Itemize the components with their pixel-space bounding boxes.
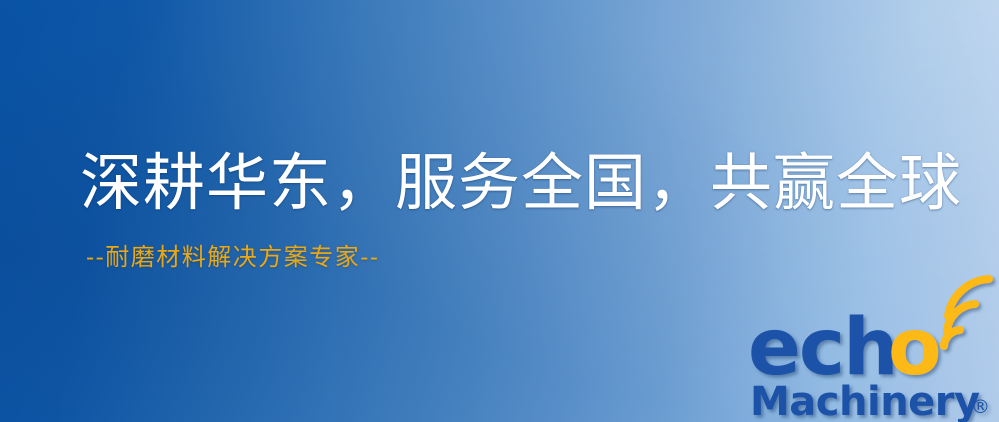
promo-banner: 深耕华东，服务全国，共赢全球 --耐磨材料解决方案专家-- ech o	[0, 0, 999, 422]
banner-copy-block: 深耕华东，服务全国，共赢全球 --耐磨材料解决方案专家--	[80, 148, 962, 272]
logo-artwork: ech o Machinery ®	[748, 300, 998, 422]
signal-wave-icon	[944, 279, 989, 346]
banner-headline: 深耕华东，服务全国，共赢全球	[80, 148, 962, 217]
echo-machinery-logo: ech o Machinery ®	[748, 300, 998, 422]
registered-trademark-icon: ®	[971, 396, 990, 418]
banner-subtitle: --耐磨材料解决方案专家--	[86, 243, 962, 272]
logo-wordmark-machinery: Machinery	[750, 379, 980, 422]
